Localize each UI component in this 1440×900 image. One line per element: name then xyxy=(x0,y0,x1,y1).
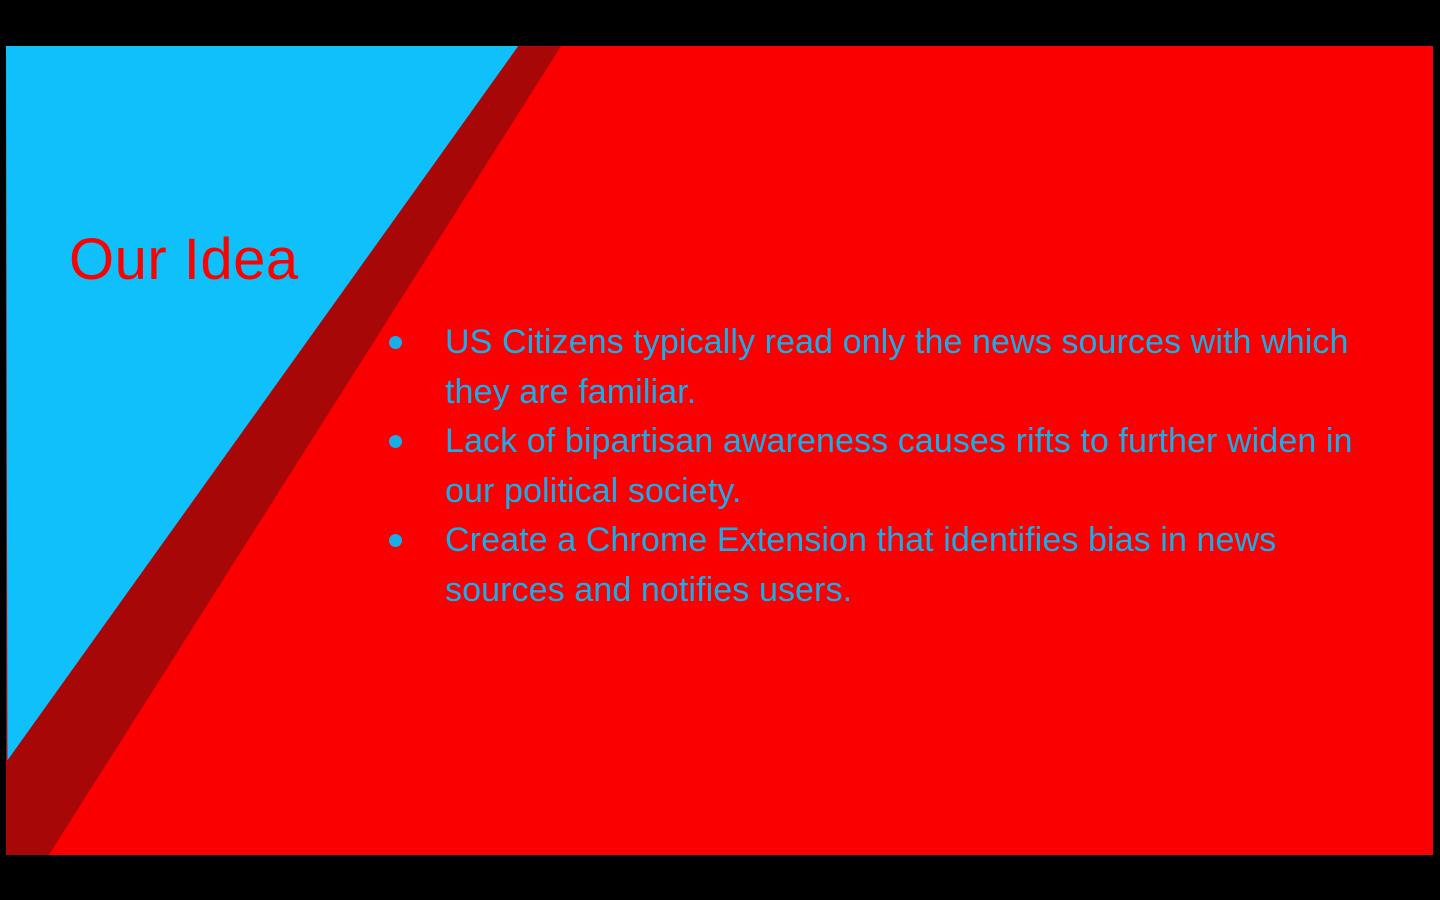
bullet-dot-icon xyxy=(389,336,402,349)
list-item: Lack of bipartisan awareness causes rift… xyxy=(379,417,1354,516)
list-item: Create a Chrome Extension that identifie… xyxy=(379,516,1354,615)
page-title: Our Idea xyxy=(69,228,299,292)
list-item: US Citizens typically read only the news… xyxy=(379,318,1354,417)
slide-canvas: Our Idea US Citizens typically read only… xyxy=(6,46,1433,855)
bullet-dot-icon xyxy=(389,534,402,547)
presentation-slide-stage: Our Idea US Citizens typically read only… xyxy=(0,0,1440,900)
list-item-label: Create a Chrome Extension that identifie… xyxy=(445,516,1354,615)
bullet-dot-icon xyxy=(389,435,402,448)
list-item-label: Lack of bipartisan awareness causes rift… xyxy=(445,417,1354,516)
bullet-list: US Citizens typically read only the news… xyxy=(379,318,1354,615)
list-item-label: US Citizens typically read only the news… xyxy=(445,318,1354,417)
